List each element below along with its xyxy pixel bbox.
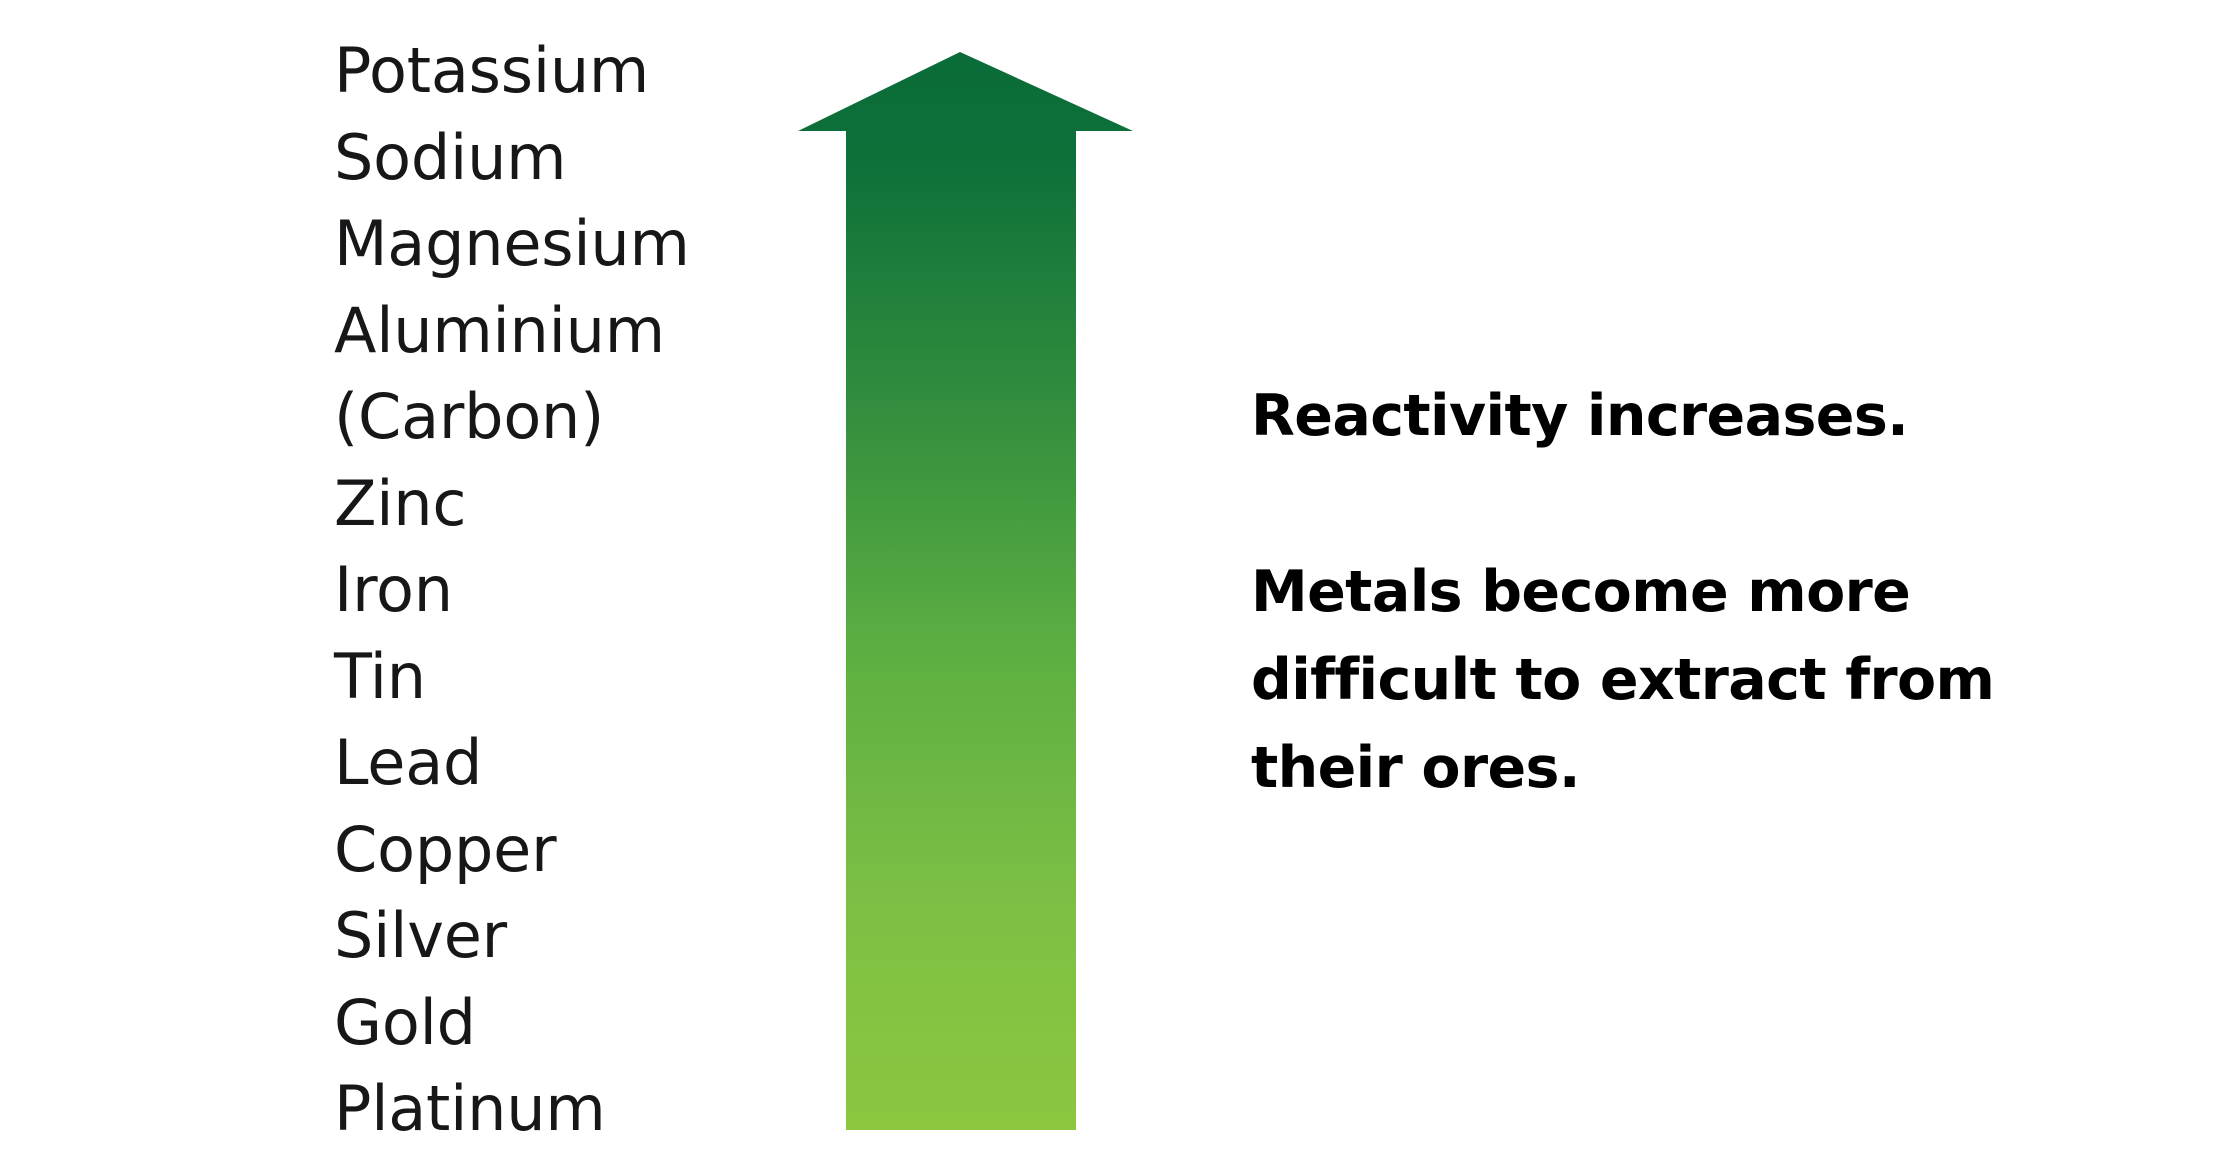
list-item: Silver [334,893,804,980]
annotation-block: Reactivity increases. Metals become more… [1251,372,2031,812]
reactivity-arrow [780,30,1160,1150]
annotation-line-reactivity: Reactivity increases. [1251,372,2031,460]
list-item: Lead [334,720,804,807]
list-item: Platinum [334,1066,804,1153]
reactivity-series-list: Potassium Sodium Magnesium Aluminium (Ca… [334,28,804,1153]
up-arrow-icon [780,30,1160,1150]
list-item: Iron [334,547,804,634]
list-item: Tin [334,634,804,721]
list-item: Copper [334,807,804,894]
annotation-spacer [1251,460,2031,548]
list-item: Potassium [334,28,804,115]
list-item: (Carbon) [334,374,804,461]
list-item: Aluminium [334,288,804,375]
list-item: Sodium [334,115,804,202]
list-item: Gold [334,980,804,1067]
annotation-line-extraction: Metals become more difficult to extract … [1251,548,2031,812]
list-item: Zinc [334,461,804,548]
slide-canvas: Potassium Sodium Magnesium Aluminium (Ca… [0,0,2223,1175]
list-item: Magnesium [334,201,804,288]
